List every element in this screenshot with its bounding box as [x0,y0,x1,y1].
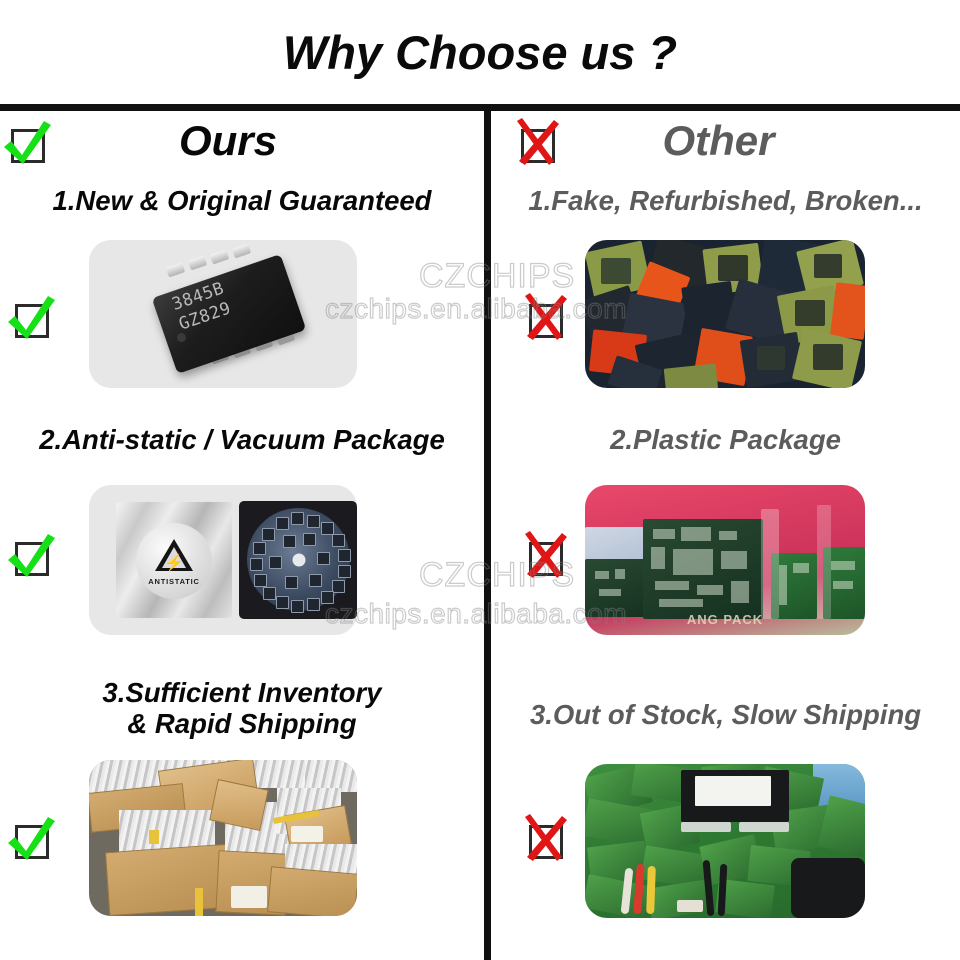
row-2-left: 2.Anti-static / Vacuum Package ⚡ ANTISTA… [0,425,484,655]
lightning-bolt-icon: ⚡ [164,556,184,572]
row-3-left: 3.Sufficient Inventory & Rapid Shipping [0,678,484,948]
reel-hub [292,553,305,566]
row-1-right: 1.Fake, Refurbished, Broken... [491,186,960,418]
page-title: Why Choose us ? [283,25,677,80]
row-3-right: 3.Out of Stock, Slow Shipping [491,678,960,948]
column-header-other: Other [491,111,960,183]
row-1-right-cross-mark [524,299,568,343]
why-choose-us-banner: Why Choose us ? Ours Other 1.New & Origi… [0,0,960,960]
antistatic-bag-illustration: ⚡ ANTISTATIC [116,502,232,618]
warehouse-boxes-photo [89,760,357,916]
row-2-right: 2.Plastic Package [491,425,960,655]
antistatic-text: ANTISTATIC [136,577,212,586]
check-mark-icon [2,810,62,870]
scrap-chips-photo [585,240,865,388]
check-mark-icon [2,527,62,587]
scrap-chips-illustration [585,240,865,388]
row-2-right-cross-mark [524,537,568,581]
ic-chip-illustration: 3845B GZ829 [89,240,357,388]
row-1-left-title: 1.New & Original Guaranteed [0,186,484,217]
column-label-other: Other [491,117,960,165]
row-3-left-title-line2: & Rapid Shipping [24,709,460,740]
cross-mark-icon [516,527,576,587]
page-title-bar: Why Choose us ? [0,0,960,104]
column-label-ours: Ours [0,117,484,165]
reel-tray-illustration [239,501,357,619]
check-mark-icon [2,289,62,349]
pack-brand-text: ANG PACK [585,612,865,627]
tape-reel [247,508,350,611]
antistatic-label-disc: ⚡ ANTISTATIC [136,523,212,599]
row-3-right-cross-mark [524,820,568,864]
column-divider [484,111,491,960]
row-3-left-title: 3.Sufficient Inventory & Rapid Shipping [0,678,484,740]
pcb-scrap-illustration [585,764,865,918]
row-2-left-title: 2.Anti-static / Vacuum Package [0,425,484,456]
cross-mark-icon [516,289,576,349]
ic-chip-photo: 3845B GZ829 [89,240,357,388]
row-1-left-check-mark [10,299,54,343]
antistatic-bag-photo: ⚡ ANTISTATIC [89,485,357,635]
row-1-right-title: 1.Fake, Refurbished, Broken... [491,186,960,217]
row-2-right-title: 2.Plastic Package [491,425,960,456]
warehouse-boxes-illustration [89,760,357,916]
header-divider [0,104,960,111]
row-3-right-title: 3.Out of Stock, Slow Shipping [491,700,960,731]
cross-mark-icon [516,810,576,870]
row-1-left: 1.New & Original Guaranteed 3845B GZ [0,186,484,418]
row-3-left-check-mark [10,820,54,864]
column-header-ours: Ours [0,111,484,183]
row-2-left-check-mark [10,537,54,581]
plastic-bag-pcb-photo: ANG PACK [585,485,865,635]
pcb-scrap-pile-photo [585,764,865,918]
row-3-left-title-line1: 3.Sufficient Inventory [24,678,460,709]
plastic-package-illustration: ANG PACK [585,485,865,635]
